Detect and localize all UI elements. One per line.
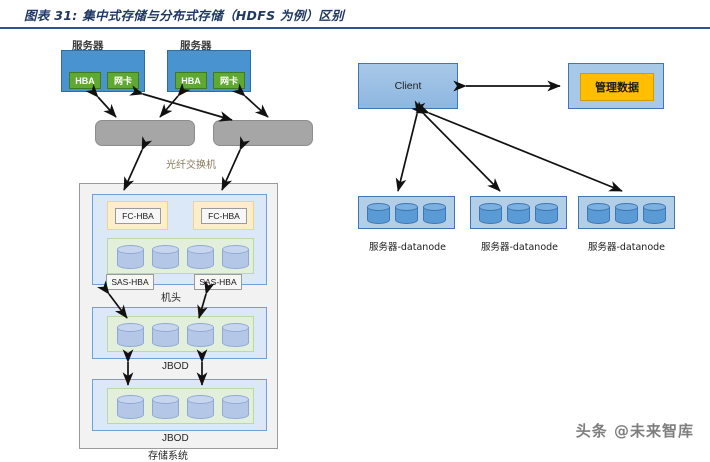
datanode-cylinder — [535, 203, 558, 224]
server-1-nic[interactable]: 网卡 — [107, 72, 139, 89]
disk-cylinder — [117, 395, 144, 419]
page-title: 图表 31: 集中式存储与分布式存储（HDFS 为例）区别 — [24, 5, 344, 24]
disk-cylinder — [222, 395, 249, 419]
storage-system-enclosure: FC-HBA FC-HBA SAS-HBA SAS-HBA 机头 — [79, 183, 278, 449]
watermark: 头条 @未来智库 — [576, 420, 694, 441]
jbod-shelf-1[interactable] — [92, 307, 267, 359]
disk-cylinder — [117, 245, 144, 269]
header-divider — [0, 27, 710, 29]
fc-hba-tag-1[interactable]: FC-HBA — [115, 208, 161, 224]
datanode-label-2: 服务器-datanode — [472, 239, 567, 253]
disk-cylinder — [117, 323, 144, 347]
disk-cylinder — [222, 323, 249, 347]
fc-hba-wrap-2: FC-HBA — [193, 201, 254, 230]
disk-cylinder — [152, 323, 179, 347]
datanode-cylinder — [423, 203, 446, 224]
sas-hba-tag-2[interactable]: SAS-HBA — [194, 274, 242, 290]
datanode-label-3: 服务器-datanode — [578, 239, 675, 253]
fc-hba-tag-2[interactable]: FC-HBA — [201, 208, 247, 224]
head-unit-label: 机头 — [161, 289, 181, 304]
datanode-cylinder — [367, 203, 390, 224]
server-1-hba[interactable]: HBA — [69, 72, 101, 89]
sas-hba-tag-1[interactable]: SAS-HBA — [106, 274, 154, 290]
disk-cylinder — [222, 245, 249, 269]
datanode-cylinder — [507, 203, 530, 224]
datanode-label-1: 服务器-datanode — [360, 239, 455, 253]
datanode-cylinder — [395, 203, 418, 224]
server-2-hba[interactable]: HBA — [175, 72, 207, 89]
jbod-1-disk-tray — [107, 316, 254, 352]
disk-cylinder — [187, 323, 214, 347]
datanode-cylinder — [615, 203, 638, 224]
jbod-2-disk-tray — [107, 388, 254, 424]
server-box-1[interactable]: HBA 网卡 — [61, 50, 145, 92]
jbod-label-1: JBOD — [162, 361, 189, 372]
datanode-box-1[interactable] — [358, 196, 455, 229]
server-2-nic[interactable]: 网卡 — [213, 72, 245, 89]
datanode-box-2[interactable] — [470, 196, 567, 229]
figure-header: 图表 31: 集中式存储与分布式存储（HDFS 为例）区别 — [0, 0, 710, 30]
fibre-switch-2[interactable] — [213, 120, 313, 146]
fc-hba-wrap-1: FC-HBA — [107, 201, 168, 230]
disk-cylinder — [187, 245, 214, 269]
metadata-outer-box: 管理数据 — [568, 63, 664, 109]
head-unit-shelf[interactable]: FC-HBA FC-HBA — [92, 194, 267, 285]
datanode-cylinder — [587, 203, 610, 224]
datanode-box-3[interactable] — [578, 196, 675, 229]
fibre-switch-1[interactable] — [95, 120, 195, 146]
server-box-2[interactable]: HBA 网卡 — [167, 50, 251, 92]
disk-cylinder — [187, 395, 214, 419]
fibre-switch-label: 光纤交换机 — [166, 156, 216, 171]
datanode-cylinder — [643, 203, 666, 224]
client-box[interactable]: Client — [358, 63, 458, 109]
jbod-label-2: JBOD — [162, 433, 189, 444]
disk-cylinder — [152, 245, 179, 269]
datanode-cylinder — [479, 203, 502, 224]
jbod-shelf-2[interactable] — [92, 379, 267, 431]
disk-cylinder — [152, 395, 179, 419]
head-unit-disk-tray — [107, 238, 254, 274]
metadata-box[interactable]: 管理数据 — [580, 73, 654, 101]
